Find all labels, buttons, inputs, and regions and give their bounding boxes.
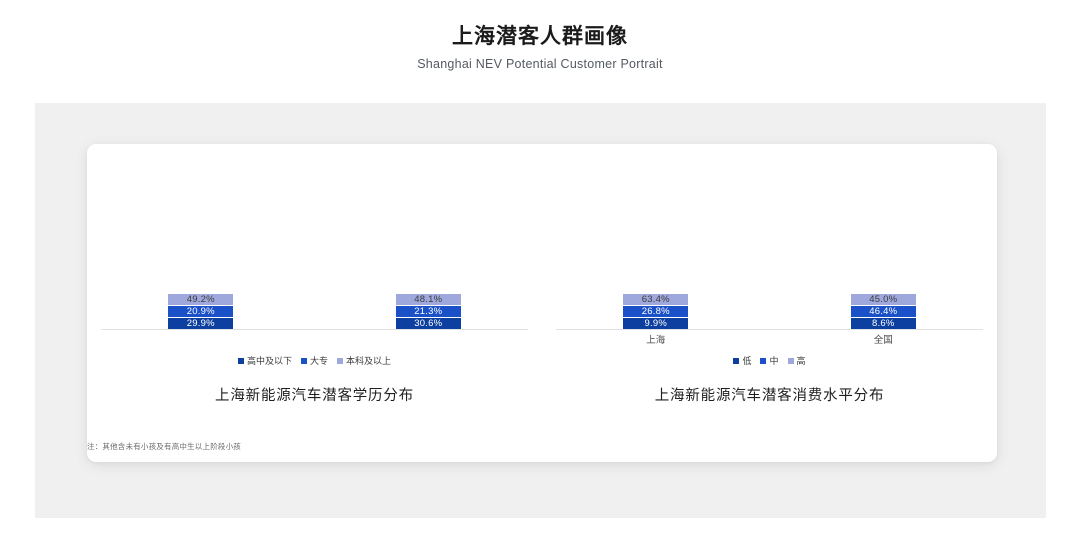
legend-item[interactable]: 高中及以下	[238, 354, 292, 367]
chart-education-caption: 上海新能源汽车潜客学历分布	[87, 384, 542, 405]
legend-label: 本科及以上	[346, 354, 391, 367]
bar-segment-mid[interactable]: 20.9%	[167, 305, 234, 317]
legend-swatch-icon	[788, 358, 794, 364]
legend-item[interactable]: 高	[788, 354, 806, 367]
bar-segment-high[interactable]: 49.2%	[167, 293, 234, 305]
x-tick-label-shanghai: 上海	[622, 332, 689, 346]
chart-education-axis-labels	[87, 332, 542, 346]
legend-label: 高中及以下	[247, 354, 292, 367]
chart-consumption-caption: 上海新能源汽车潜客消费水平分布	[542, 384, 997, 405]
charts-card: 49.2% 20.9% 29.9% 48.1% 21.3% 30.6%	[87, 144, 997, 462]
chart-consumption-legend: 低 中 高	[542, 354, 997, 367]
legend-label: 中	[769, 354, 778, 367]
legend-swatch-icon	[337, 358, 343, 364]
page-title: 上海潜客人群画像	[0, 24, 1080, 50]
page-header: 上海潜客人群画像 Shanghai NEV Potential Customer…	[0, 0, 1080, 71]
bar-segment-high[interactable]: 45.0%	[850, 293, 917, 305]
legend-item[interactable]: 中	[760, 354, 778, 367]
bar-column[interactable]: 63.4% 26.8% 9.9%	[622, 293, 689, 330]
chart-consumption-bars: 63.4% 26.8% 9.9% 45.0% 46.4% 8.6%	[542, 186, 997, 330]
legend-swatch-icon	[238, 358, 244, 364]
chart-education-legend: 高中及以下 大专 本科及以上	[87, 354, 542, 367]
footnote-text: 注：其他含未有小孩及有高中生以上阶段小孩	[87, 441, 241, 452]
x-axis-line	[556, 329, 983, 330]
legend-item[interactable]: 低	[733, 354, 751, 367]
legend-label: 低	[742, 354, 751, 367]
page-subtitle: Shanghai NEV Potential Customer Portrait	[0, 57, 1080, 71]
legend-label: 大专	[310, 354, 328, 367]
bar-segment-mid[interactable]: 26.8%	[622, 305, 689, 317]
x-axis-line	[101, 329, 528, 330]
chart-education-bars: 49.2% 20.9% 29.9% 48.1% 21.3% 30.6%	[87, 186, 542, 330]
bar-column[interactable]: 49.2% 20.9% 29.9%	[167, 293, 234, 330]
legend-item[interactable]: 大专	[301, 354, 328, 367]
legend-swatch-icon	[301, 358, 307, 364]
charts-row: 49.2% 20.9% 29.9% 48.1% 21.3% 30.6%	[87, 144, 997, 462]
legend-swatch-icon	[760, 358, 766, 364]
chart-education: 49.2% 20.9% 29.9% 48.1% 21.3% 30.6%	[87, 144, 542, 462]
x-tick-label-national: 全国	[850, 332, 917, 346]
legend-swatch-icon	[733, 358, 739, 364]
chart-education-plot: 49.2% 20.9% 29.9% 48.1% 21.3% 30.6%	[87, 186, 542, 330]
bar-segment-mid[interactable]: 46.4%	[850, 305, 917, 317]
chart-consumption: 63.4% 26.8% 9.9% 45.0% 46.4% 8.6% 上海 全国	[542, 144, 997, 462]
chart-consumption-plot: 63.4% 26.8% 9.9% 45.0% 46.4% 8.6%	[542, 186, 997, 330]
x-tick-label	[167, 332, 234, 346]
chart-consumption-axis-labels: 上海 全国	[542, 332, 997, 346]
bar-segment-mid[interactable]: 21.3%	[395, 305, 462, 317]
legend-item[interactable]: 本科及以上	[337, 354, 391, 367]
x-tick-label	[395, 332, 462, 346]
legend-label: 高	[797, 354, 806, 367]
bar-column[interactable]: 48.1% 21.3% 30.6%	[395, 293, 462, 330]
bar-segment-high[interactable]: 63.4%	[622, 293, 689, 305]
bar-column[interactable]: 45.0% 46.4% 8.6%	[850, 293, 917, 330]
bar-segment-high[interactable]: 48.1%	[395, 293, 462, 305]
